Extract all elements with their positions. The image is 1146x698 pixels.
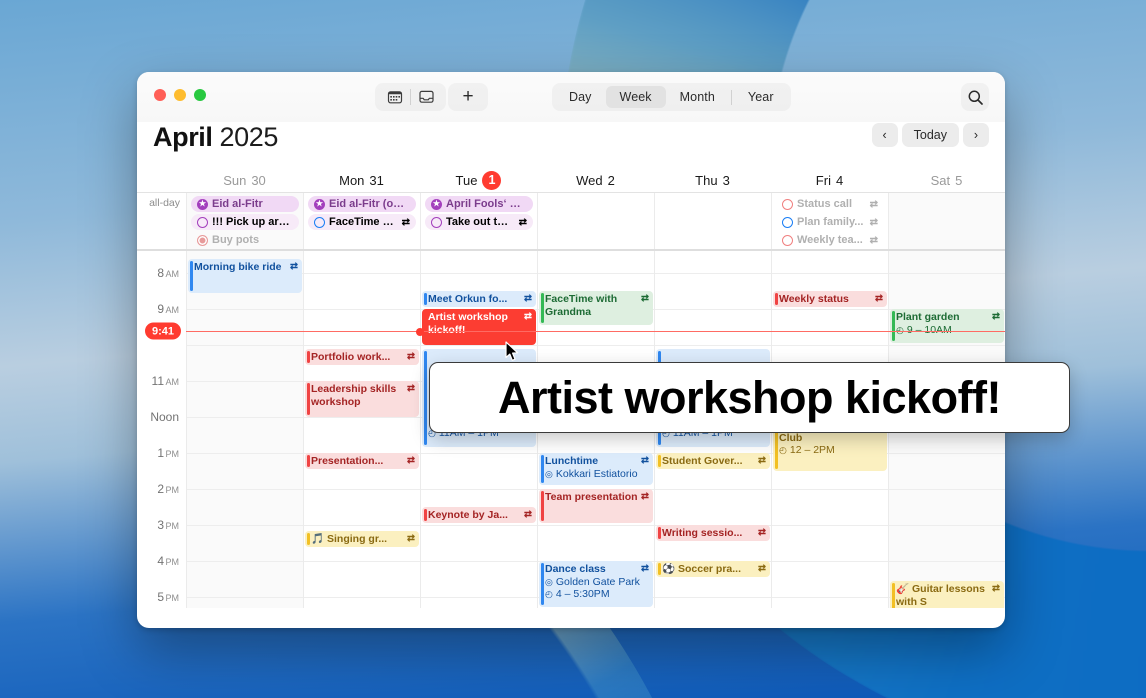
event-title-row: 🎵 Singing gr...⇄	[311, 533, 415, 546]
event-title-row: Weekly status⇄	[779, 293, 883, 306]
hour-gridline	[772, 345, 888, 346]
day-name: Mon	[339, 173, 364, 188]
close-button[interactable]	[154, 89, 166, 101]
hour-gridline	[772, 561, 888, 562]
event-title: Presentation...	[311, 455, 404, 468]
month-label: April	[153, 122, 213, 152]
calendar-icon[interactable]	[380, 86, 410, 108]
event-title-row: ⚽ Soccer pra...⇄	[662, 563, 766, 576]
event-title: ⚽ Soccer pra...	[662, 563, 755, 576]
current-time-line	[186, 331, 1005, 332]
hour-gridline	[772, 597, 888, 598]
event-title: Dance class	[545, 563, 638, 576]
event-color-bar	[424, 293, 427, 305]
selected-event[interactable]: Artist workshop kickoff!⇄	[422, 309, 536, 345]
event-title: Morning bike ride	[194, 261, 287, 274]
hour-gridline	[304, 597, 420, 598]
hour-gridline	[187, 417, 303, 418]
day-column-mon[interactable]: Portfolio work...⇄Leadership skills work…	[303, 251, 420, 608]
repeat-icon: ⇄	[758, 455, 766, 467]
event-title-row: Plant garden⇄	[896, 311, 1000, 324]
calendar-event[interactable]: Portfolio work...⇄	[305, 349, 419, 365]
event-title: 🎵 Singing gr...	[311, 533, 404, 546]
day-header-sun[interactable]: Sun30	[186, 168, 303, 192]
hour-gridline	[304, 273, 420, 274]
star-circle-icon: ★	[431, 199, 442, 210]
location-pin-icon: ◎	[545, 468, 553, 481]
repeat-icon: ⇄	[407, 533, 415, 545]
day-header-fri[interactable]: Fri4	[771, 168, 888, 192]
day-name: Fri	[816, 173, 831, 188]
hour-gridline	[187, 489, 303, 490]
event-title: 🎸 Guitar lessons with S	[896, 583, 989, 608]
hour-gridline	[889, 525, 1005, 526]
event-time: 12 – 2PM	[790, 444, 835, 457]
hour-gridline	[772, 273, 888, 274]
repeat-icon: ⇄	[870, 199, 878, 210]
year-label: 2025	[220, 122, 278, 152]
all-day-event[interactable]: FaceTime G...⇄	[308, 214, 416, 230]
hour-gridline	[421, 273, 537, 274]
all-day-row: all-day ★Eid al-Fitr!!! Pick up arts...B…	[137, 193, 1005, 251]
window-titlebar: + Day Week Month Year	[137, 72, 1005, 122]
time-suffix: PM	[166, 557, 180, 567]
day-number: 4	[836, 173, 843, 188]
segment-divider	[731, 90, 732, 105]
hour-gridline	[889, 273, 1005, 274]
event-color-bar	[658, 527, 661, 539]
repeat-icon: ⇄	[992, 311, 1000, 323]
current-time-indicator: 9:41	[145, 323, 181, 340]
calendar-event[interactable]: Keynote by Ja...⇄	[422, 507, 536, 523]
hour-gridline	[304, 417, 420, 418]
today-button[interactable]: Today	[902, 123, 959, 147]
time-suffix: PM	[166, 485, 180, 495]
event-location-row: ◎Kokkari Estiatorio	[545, 468, 649, 481]
minimize-button[interactable]	[174, 89, 186, 101]
hour-gridline	[187, 561, 303, 562]
tab-year[interactable]: Year	[734, 86, 788, 108]
tab-month[interactable]: Month	[666, 86, 729, 108]
repeat-icon: ⇄	[524, 509, 532, 521]
time-label-9: 9AM	[157, 302, 179, 316]
hour-gridline	[421, 597, 537, 598]
event-color-bar	[892, 583, 895, 608]
hour-gridline	[187, 381, 303, 382]
day-header-tue[interactable]: Tue1	[420, 168, 537, 192]
all-day-event-title: Take out the...	[446, 216, 515, 228]
all-day-event[interactable]: !!! Pick up arts...	[191, 214, 299, 230]
event-title-row: Dance class⇄	[545, 563, 649, 576]
day-header-thu[interactable]: Thu3	[654, 168, 771, 192]
all-day-column-wed[interactable]	[537, 193, 654, 249]
tab-week[interactable]: Week	[606, 86, 666, 108]
all-day-event-title: FaceTime G...	[329, 216, 398, 228]
hour-gridline	[889, 489, 1005, 490]
calendar-event[interactable]: Team presentation⇄	[539, 489, 653, 523]
calendar-event[interactable]: Dance class⇄◎Golden Gate Park◴4 – 5:30PM	[539, 561, 653, 607]
event-title: Team presentation	[545, 491, 638, 504]
location-pin-icon: ◎	[545, 576, 553, 589]
all-day-event[interactable]: Plan family...⇄	[776, 214, 884, 230]
hour-gridline	[655, 489, 771, 490]
event-location-row: ◎Golden Gate Park	[545, 576, 649, 589]
repeat-icon: ⇄	[758, 527, 766, 539]
today-date-badge: 1	[482, 171, 501, 190]
event-color-bar	[190, 261, 193, 291]
hour-gridline	[187, 345, 303, 346]
event-title-row: Leadership skills workshop⇄	[311, 383, 415, 408]
event-color-bar	[307, 455, 310, 467]
day-number: 31	[369, 173, 383, 188]
hour-gridline	[772, 489, 888, 490]
event-time-row: ◴12 – 2PM	[779, 444, 883, 457]
hour-gridline	[187, 597, 303, 598]
event-title-row: FaceTime with Grandma⇄	[545, 293, 649, 318]
hour-gridline	[421, 525, 537, 526]
zoom-button[interactable]	[194, 89, 206, 101]
all-day-event-title: Eid al-Fitr (obs...	[329, 198, 410, 210]
tab-day[interactable]: Day	[555, 86, 606, 108]
previous-week-button[interactable]: ‹	[872, 123, 898, 147]
hour-gridline	[421, 453, 537, 454]
day-name: Wed	[576, 173, 603, 188]
add-event-group: +	[448, 83, 488, 111]
calendar-event[interactable]: Meet Orkun fo...⇄	[422, 291, 536, 307]
day-header-gutter	[137, 168, 186, 192]
clock-icon: ◴	[896, 324, 904, 337]
page-title: April2025	[153, 122, 278, 152]
all-day-column-tue[interactable]: ★April Fools‘ DayTake out the...⇄	[420, 193, 537, 249]
event-title: FaceTime with Grandma	[545, 293, 638, 318]
event-color-bar	[424, 351, 427, 445]
event-title-row: Keynote by Ja...⇄	[428, 509, 532, 522]
repeat-icon: ⇄	[641, 455, 649, 467]
repeat-icon: ⇄	[758, 563, 766, 575]
search-icon[interactable]	[961, 83, 989, 111]
repeat-icon: ⇄	[641, 293, 649, 305]
event-title-row: Morning bike ride⇄	[194, 261, 298, 274]
hour-gridline	[538, 273, 654, 274]
hour-gridline	[889, 561, 1005, 562]
hour-gridline	[304, 345, 420, 346]
repeat-icon: ⇄	[524, 293, 532, 305]
hour-gridline	[655, 273, 771, 274]
repeat-icon: ⇄	[992, 583, 1000, 595]
event-title-row: Presentation...⇄	[311, 455, 415, 468]
event-title: Weekly status	[779, 293, 872, 306]
calendar-event[interactable]: Weekly status⇄	[773, 291, 887, 307]
all-day-column-thu[interactable]	[654, 193, 771, 249]
day-header-sat[interactable]: Sat5	[888, 168, 1005, 192]
all-day-event[interactable]: Buy pots	[191, 232, 299, 248]
day-name: Sun	[223, 173, 246, 188]
hour-gridline	[304, 309, 420, 310]
event-color-bar	[658, 563, 661, 575]
star-circle-icon: ★	[314, 199, 325, 210]
event-time: 4 – 5:30PM	[556, 588, 610, 601]
calendar-event[interactable]: Presentation...⇄	[305, 453, 419, 469]
all-day-column-fri[interactable]: Status call⇄Plan family...⇄Weekly tea...…	[771, 193, 888, 249]
hour-gridline	[772, 309, 888, 310]
time-suffix: AM	[166, 305, 180, 315]
all-day-event-title: Status call	[797, 198, 866, 210]
event-title-row: Artist workshop kickoff!⇄	[428, 311, 532, 336]
desktop-wallpaper: + Day Week Month Year April2025 ‹ Today …	[0, 0, 1146, 698]
event-color-bar	[307, 351, 310, 363]
all-day-event-title: Plan family...	[797, 216, 866, 228]
hour-gridline	[772, 525, 888, 526]
repeat-icon: ⇄	[870, 235, 878, 246]
event-title-row: Meet Orkun fo...⇄	[428, 293, 532, 306]
repeat-icon: ⇄	[407, 455, 415, 467]
inbox-icon[interactable]	[411, 86, 441, 108]
time-label-3: 3PM	[157, 518, 179, 532]
calendar-event[interactable]: 🎸 Guitar lessons with S⇄	[890, 581, 1004, 608]
day-number: 3	[723, 173, 730, 188]
event-location: Kokkari Estiatorio	[556, 468, 638, 481]
event-color-bar	[658, 455, 661, 467]
time-label-1: 1PM	[157, 446, 179, 460]
day-number: 5	[955, 173, 962, 188]
event-time-row: ◴4 – 5:30PM	[545, 588, 649, 601]
event-title: Student Gover...	[662, 455, 755, 468]
all-day-event[interactable]: ★April Fools‘ Day	[425, 196, 533, 212]
next-week-button[interactable]: ›	[963, 123, 989, 147]
date-navigation: ‹ Today ›	[872, 123, 989, 147]
all-day-event-title: Buy pots	[212, 234, 293, 246]
event-time-row: ◴9 – 10AM	[896, 324, 1000, 337]
view-toggle-group	[375, 83, 446, 111]
hour-gridline	[655, 309, 771, 310]
time-suffix: PM	[166, 449, 180, 459]
event-color-bar	[541, 293, 544, 323]
event-title: Lunchtime	[545, 455, 638, 468]
calendar-window: + Day Week Month Year April2025 ‹ Today …	[137, 72, 1005, 628]
clock-icon: ◴	[545, 588, 553, 601]
hour-gridline	[421, 489, 537, 490]
day-name: Tue	[456, 173, 478, 188]
hour-gridline	[304, 489, 420, 490]
event-title: Writing sessio...	[662, 527, 755, 540]
all-day-event[interactable]: Take out the...⇄	[425, 214, 533, 230]
star-circle-icon: ★	[197, 199, 208, 210]
hour-gridline	[889, 345, 1005, 346]
hour-gridline	[538, 345, 654, 346]
event-color-bar	[424, 509, 427, 521]
event-title: Meet Orkun fo...	[428, 293, 521, 306]
all-day-column-mon[interactable]: ★Eid al-Fitr (obs...FaceTime G...⇄	[303, 193, 420, 249]
event-color-bar	[307, 383, 310, 415]
hour-gridline	[187, 525, 303, 526]
event-title-row: Lunchtime⇄	[545, 455, 649, 468]
repeat-icon: ⇄	[870, 217, 878, 228]
event-color-bar	[541, 491, 544, 521]
circle-outline-icon	[782, 217, 793, 228]
day-column-sun[interactable]: Morning bike ride⇄	[186, 251, 303, 608]
hour-gridline	[304, 561, 420, 562]
calendar-header: April2025 ‹ Today ›	[137, 122, 1005, 168]
hour-gridline	[538, 525, 654, 526]
event-title: Keynote by Ja...	[428, 509, 521, 522]
hour-gridline	[655, 345, 771, 346]
event-title: Portfolio work...	[311, 351, 404, 364]
day-name: Sat	[931, 173, 951, 188]
event-title: Artist workshop kickoff!	[428, 311, 521, 336]
event-color-bar	[541, 455, 544, 483]
event-tooltip: Artist workshop kickoff!	[429, 362, 1070, 433]
all-day-event[interactable]: ★Eid al-Fitr (obs...	[308, 196, 416, 212]
event-color-bar	[307, 533, 310, 545]
mouse-cursor	[505, 341, 520, 368]
all-day-event-title: Eid al-Fitr	[212, 198, 293, 210]
hour-gridline	[187, 309, 303, 310]
event-title-row: Portfolio work...⇄	[311, 351, 415, 364]
current-time-dot	[416, 328, 424, 336]
repeat-icon: ⇄	[407, 351, 415, 363]
calendar-event[interactable]: ⚽ Soccer pra...⇄	[656, 561, 770, 577]
event-location: Golden Gate Park	[556, 576, 640, 589]
all-day-column-sat[interactable]	[888, 193, 1005, 249]
repeat-icon: ⇄	[641, 563, 649, 575]
day-header-wed[interactable]: Wed2	[537, 168, 654, 192]
time-suffix: PM	[166, 521, 180, 531]
calendar-event[interactable]: 🎵 Singing gr...⇄	[305, 531, 419, 547]
repeat-icon: ⇄	[407, 383, 415, 395]
calendar-event[interactable]: Plant garden⇄◴9 – 10AM	[890, 309, 1004, 343]
event-color-bar	[892, 311, 895, 341]
all-day-event[interactable]: ★Eid al-Fitr	[191, 196, 299, 212]
calendar-event[interactable]: Student Gover...⇄	[656, 453, 770, 469]
time-label-11: 11AM	[152, 374, 179, 388]
event-title-row: Writing sessio...⇄	[662, 527, 766, 540]
day-header-row: Sun30Mon31Tue1Wed2Thu3Fri4Sat5	[137, 168, 1005, 193]
time-suffix: AM	[166, 377, 180, 387]
hour-gridline	[421, 561, 537, 562]
repeat-icon: ⇄	[402, 217, 410, 228]
time-gutter: 8AM9AM11AMNoon1PM2PM3PM4PM5PM	[137, 251, 186, 608]
day-header-mon[interactable]: Mon31	[303, 168, 420, 192]
hour-gridline	[187, 453, 303, 454]
circle-outline-icon	[197, 217, 208, 228]
event-time: 9 – 10AM	[907, 324, 952, 337]
hour-gridline	[889, 453, 1005, 454]
day-number: 30	[251, 173, 265, 188]
repeat-icon: ⇄	[524, 311, 532, 323]
all-day-event[interactable]: Weekly tea...⇄	[776, 232, 884, 248]
time-label-5: 5PM	[157, 590, 179, 604]
hour-gridline	[304, 525, 420, 526]
calendar-event[interactable]: Writing sessio...⇄	[656, 525, 770, 541]
event-title: Leadership skills workshop	[311, 383, 404, 408]
all-day-event-title: !!! Pick up arts...	[212, 216, 293, 228]
event-title-row: Student Gover...⇄	[662, 455, 766, 468]
circle-outline-icon	[782, 235, 793, 246]
calendar-event[interactable]: Lunchtime⇄◎Kokkari Estiatorio	[539, 453, 653, 485]
all-day-label: all-day	[137, 193, 186, 249]
event-title: Plant garden	[896, 311, 989, 324]
time-label-8: 8AM	[157, 266, 179, 280]
event-color-bar	[775, 293, 778, 305]
event-color-bar	[424, 311, 427, 343]
all-day-event-title: Weekly tea...	[797, 234, 866, 246]
repeat-icon: ⇄	[875, 293, 883, 305]
repeat-icon: ⇄	[519, 217, 527, 228]
event-color-bar	[541, 563, 544, 605]
circle-outline-icon	[314, 217, 325, 228]
time-suffix: PM	[166, 593, 180, 603]
day-number: 2	[608, 173, 615, 188]
view-segmented-control: Day Week Month Year	[552, 83, 791, 111]
calendar-event[interactable]: Morning bike ride⇄	[188, 259, 302, 293]
event-title-row: Team presentation⇄	[545, 491, 649, 504]
event-title-row: 🎸 Guitar lessons with S⇄	[896, 583, 1000, 608]
clock-icon: ◴	[779, 444, 787, 457]
repeat-icon: ⇄	[641, 491, 649, 503]
circle-filled-icon	[197, 235, 208, 246]
time-label-noon: Noon	[150, 410, 179, 424]
all-day-event-title: April Fools‘ Day	[446, 198, 527, 210]
calendar-event[interactable]: FaceTime with Grandma⇄	[539, 291, 653, 325]
all-day-column-sun[interactable]: ★Eid al-Fitr!!! Pick up arts...Buy pots	[186, 193, 303, 249]
add-event-button[interactable]: +	[453, 86, 483, 108]
time-label-2: 2PM	[157, 482, 179, 496]
circle-outline-icon	[782, 199, 793, 210]
time-label-4: 4PM	[157, 554, 179, 568]
circle-outline-icon	[431, 217, 442, 228]
calendar-event[interactable]: Leadership skills workshop⇄	[305, 381, 419, 417]
traffic-lights	[154, 89, 206, 101]
day-name: Thu	[695, 173, 717, 188]
hour-gridline	[655, 597, 771, 598]
repeat-icon: ⇄	[290, 261, 298, 273]
all-day-event[interactable]: Status call⇄	[776, 196, 884, 212]
time-suffix: AM	[166, 269, 180, 279]
